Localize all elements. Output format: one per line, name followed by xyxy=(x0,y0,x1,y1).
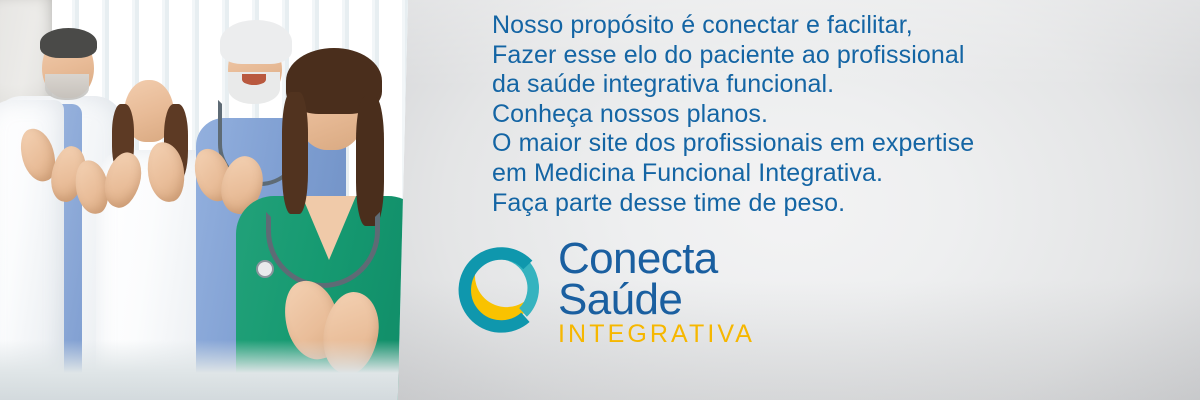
headline-line-2: Fazer esse elo do paciente ao profission… xyxy=(492,41,1172,71)
headline-line-1: Nosso propósito é conectar e facilitar, xyxy=(492,11,1172,41)
headline-line-7: Faça parte desse time de peso. xyxy=(492,189,1172,219)
promo-banner: Nosso propósito é conectar e facilitar, … xyxy=(0,0,1200,400)
banner-content: Nosso propósito é conectar e facilitar, … xyxy=(452,0,1172,400)
photo-floor-fade xyxy=(0,340,408,400)
headline-line-4: Conheça nossos planos. xyxy=(492,100,1172,130)
team-photo xyxy=(0,0,408,400)
logo-name-line-2: Saúde xyxy=(558,279,755,320)
headline-line-5: O maior site dos profissionais em expert… xyxy=(492,129,1172,159)
logo-wordmark: Conecta Saúde INTEGRATIVA xyxy=(558,236,755,349)
logo-name-line-1: Conecta xyxy=(558,238,755,279)
headline-line-6: em Medicina Funcional Integrativa. xyxy=(492,159,1172,189)
headline-line-3: da saúde integrativa funcional. xyxy=(492,70,1172,100)
conecta-saude-logo[interactable]: Conecta Saúde INTEGRATIVA xyxy=(452,236,755,349)
logo-tagline: INTEGRATIVA xyxy=(558,320,755,349)
headline-block: Nosso propósito é conectar e facilitar, … xyxy=(452,0,1172,218)
logo-ring-icon xyxy=(452,240,548,336)
